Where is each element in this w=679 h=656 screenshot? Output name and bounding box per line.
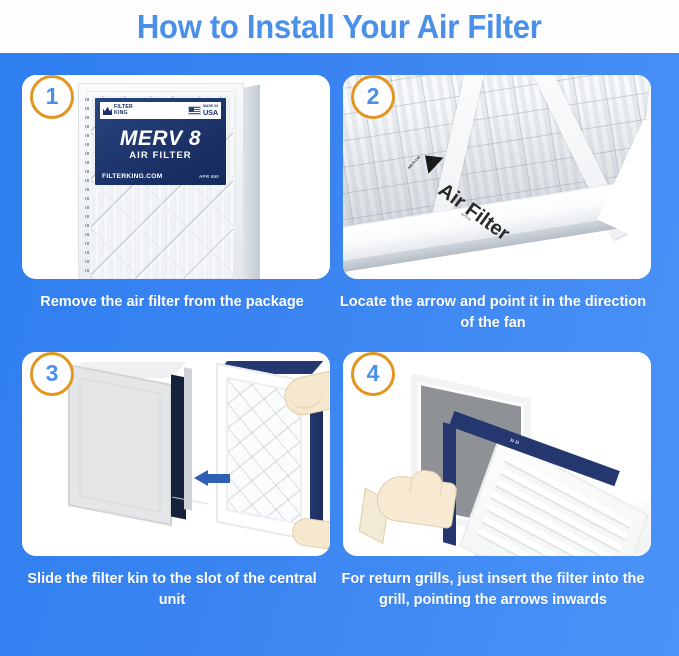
airflow-arrow-icon: AIR FLOW — [418, 151, 443, 176]
step-2-caption: Locate the arrow and point it in the dir… — [335, 292, 651, 333]
filter-product-label: FILTER KING MADE IN USA — [95, 98, 226, 185]
website-url: FILTERKING.COM — [102, 173, 163, 180]
step-3-caption: Slide the filter kin to the slot of the … — [14, 569, 330, 610]
filter-arrow-marks: »» — [509, 435, 522, 447]
header-bar: How to Install Your Air Filter — [0, 0, 679, 53]
filter-arrow-marks: »» — [280, 354, 302, 361]
step-3: »» 3 Slide the filter kin to the slot — [14, 352, 330, 610]
steps-grid: FILTER KING MADE IN USA — [0, 53, 679, 656]
country-label: USA — [203, 109, 218, 116]
filter-media — [91, 96, 233, 278]
made-in-label: MADE IN — [203, 105, 218, 108]
step-1: FILTER KING MADE IN USA — [14, 75, 330, 313]
step-4-caption: For return grills, just insert the filte… — [335, 569, 651, 610]
filter-mesh-pattern — [91, 96, 233, 278]
insertion-arrow-icon — [194, 470, 230, 486]
step-2-card: AIR FLOW Air Filter airflow 2 — [343, 75, 651, 279]
unit-front-face — [68, 364, 172, 526]
label-footer-strip: FILTERKING.COM APR 650 — [102, 173, 219, 180]
step-1-card: FILTER KING MADE IN USA — [22, 75, 330, 279]
step-2-number: 2 — [367, 85, 380, 108]
hand-lower — [290, 516, 330, 551]
step-2-badge: 2 — [351, 75, 395, 119]
hand-inserting-filter — [374, 473, 458, 529]
us-flag-icon — [188, 106, 201, 115]
step-1-number: 1 — [46, 85, 59, 108]
arrow-shaft — [206, 474, 230, 483]
step-2: AIR FLOW Air Filter airflow 2 Locate the… — [335, 75, 651, 333]
unit-side-face — [184, 367, 192, 511]
step-4-number: 4 — [367, 362, 380, 385]
product-type: AIR FILTER — [95, 150, 226, 161]
step-1-caption: Remove the air filter from the package — [14, 292, 330, 313]
label-header-strip: FILTER KING MADE IN USA — [100, 102, 221, 119]
filter-pleat-ticks-left — [85, 98, 89, 276]
infographic-root: How to Install Your Air Filter — [0, 0, 679, 656]
step-1-badge: 1 — [30, 75, 74, 119]
central-unit — [68, 362, 188, 522]
filter-mesh-highlight — [93, 98, 235, 280]
step-4: »» 4 For return grills, just insert the … — [335, 352, 651, 610]
arrow-head — [194, 470, 208, 486]
made-in-usa-badge: MADE IN USA — [188, 105, 218, 116]
page-title: How to Install Your Air Filter — [137, 8, 542, 46]
crown-icon — [103, 106, 112, 115]
filter-king-logo: FILTER KING — [103, 105, 133, 116]
step-3-number: 3 — [46, 362, 59, 385]
step-3-card: »» 3 — [22, 352, 330, 556]
filter-frame: FILTER KING MADE IN USA — [78, 83, 244, 279]
step-4-badge: 4 — [351, 352, 395, 396]
brand-line-2: KING — [114, 111, 133, 116]
step-3-badge: 3 — [30, 352, 74, 396]
brand-line-1: FILTER — [114, 105, 133, 110]
air-filter-product: FILTER KING MADE IN USA — [74, 83, 274, 279]
step-4-card: »» 4 — [343, 352, 651, 556]
brand-name: FILTER KING — [114, 105, 133, 116]
merv-rating: MERV 8 — [95, 128, 226, 149]
made-in-usa-text: MADE IN USA — [203, 105, 218, 116]
apr-rating: APR 650 — [199, 174, 219, 179]
